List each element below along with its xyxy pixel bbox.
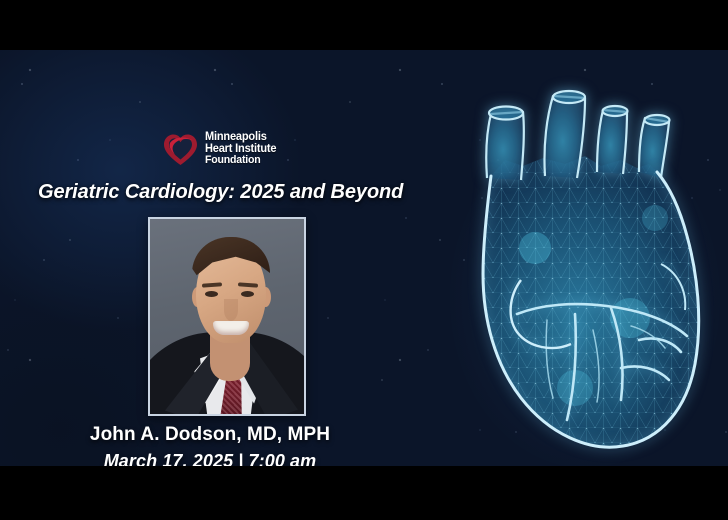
background-gradient [0,50,728,466]
portrait-photo [150,219,304,414]
letterbox-bar-top [0,0,728,50]
title-slide: Minneapolis Heart Institute Foundation G… [0,0,728,520]
eye-left [205,291,218,297]
speaker-block: John A. Dodson, MD, MPH March 17, 2025 |… [0,424,420,466]
session-datetime: March 17, 2025 | 7:00 am [0,451,420,466]
heart-swoosh-icon [163,132,199,166]
mhif-wordmark: Minneapolis Heart Institute Foundation [205,132,279,166]
eye-right [241,291,254,297]
speaker-name: John A. Dodson, MD, MPH [0,424,420,446]
letterbox-bar-bottom [0,466,728,520]
nose-shape [224,299,238,321]
logo-line-3: Foundation [205,155,276,166]
page-title: Geriatric Cardiology: 2025 and Beyond [38,181,403,204]
mhif-logo: Minneapolis Heart Institute Foundation [163,128,318,170]
speaker-portrait [148,217,306,416]
smile-shape [213,321,249,335]
slide-stage: Minneapolis Heart Institute Foundation G… [0,50,728,466]
